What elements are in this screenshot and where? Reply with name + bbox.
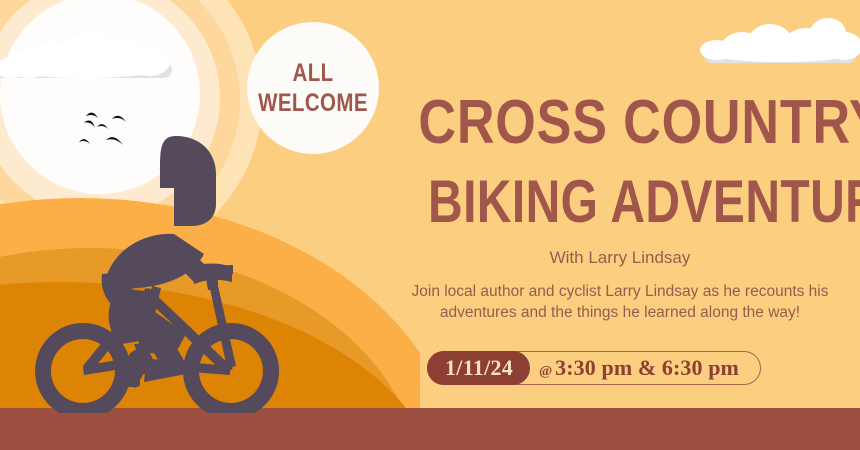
event-times: 3:30 pm & 6:30 pm — [555, 355, 739, 381]
time-wrap: @ 3:30 pm & 6:30 pm — [530, 355, 739, 381]
badge-line-2: WELCOME — [258, 88, 368, 119]
headline-line-1: CROSS COUNTRY — [418, 92, 821, 154]
event-date: 1/11/24 — [445, 355, 513, 381]
event-description: Join local author and cyclist Larry Lind… — [402, 282, 838, 323]
datetime-capsule: 1/11/24 @ 3:30 pm & 6:30 pm — [427, 351, 761, 385]
text-column: CROSS COUNTRY BIKING ADVENTURES With Lar… — [380, 0, 860, 408]
at-symbol-icon: @ — [539, 364, 555, 380]
date-pill: 1/11/24 — [427, 351, 530, 385]
cyclist-head-helmet — [160, 136, 216, 226]
bicycle-pedal — [114, 378, 140, 387]
bottom-band — [0, 408, 860, 450]
event-poster: ALL WELCOME CROSS COUNTRY BIKING ADVENTU… — [0, 0, 860, 450]
headline-line-2: BIKING ADVENTURES — [428, 172, 812, 232]
presenter-name: With Larry Lindsay — [380, 248, 860, 268]
all-welcome-badge: ALL WELCOME — [247, 22, 379, 154]
badge-line-1: ALL — [292, 58, 333, 89]
cyclist-illustration — [18, 128, 318, 413]
